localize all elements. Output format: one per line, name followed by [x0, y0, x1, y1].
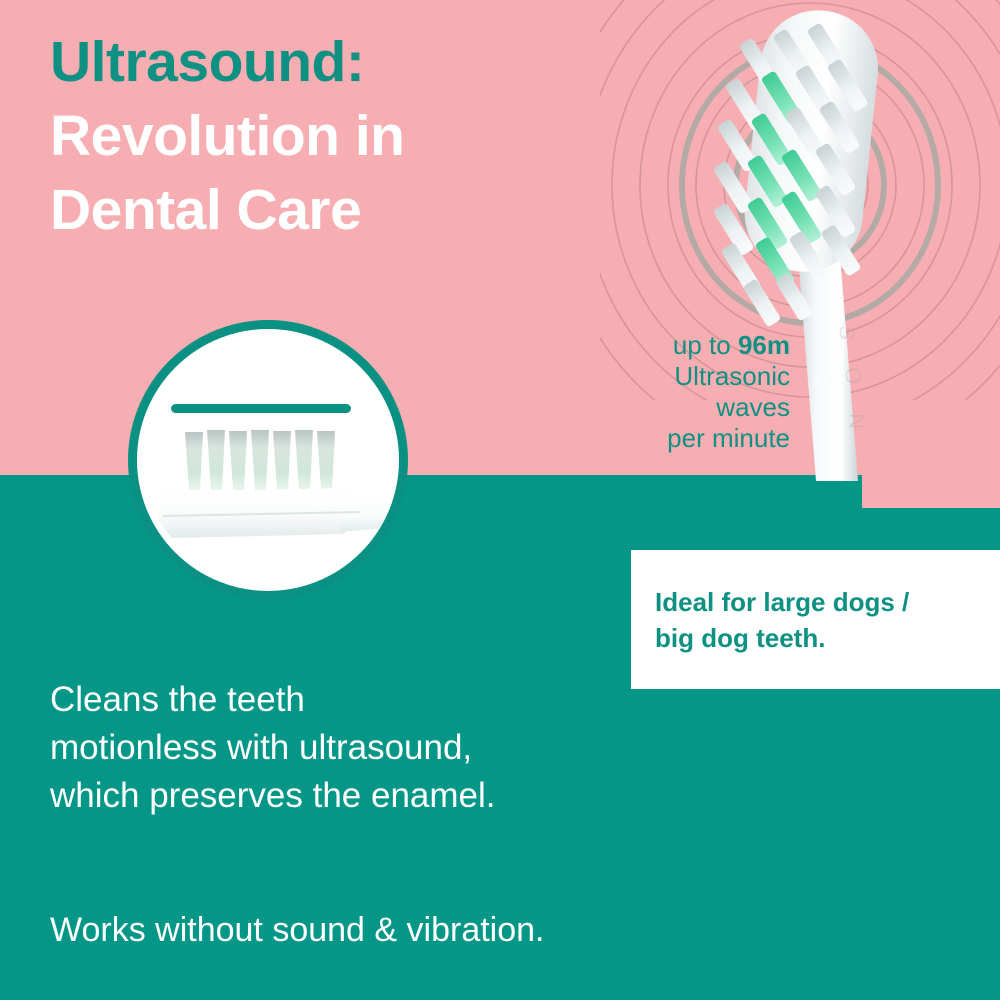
body-line-1: Cleans the teeth — [50, 676, 690, 724]
callout-text: Ideal for large dogs / big dog teeth. — [631, 584, 919, 656]
toothbrush-head-side-view — [128, 320, 408, 600]
svg-text:O: O — [840, 367, 866, 385]
ultrasonic-caption: up to 96m Ultrasonic waves per minute — [560, 330, 790, 454]
headline-line-2: Revolution in — [50, 99, 610, 173]
headline-line-3: Dental Care — [50, 173, 610, 247]
callout-line-2: big dog teeth. — [655, 620, 909, 656]
svg-text:N: N — [844, 413, 870, 430]
callout-box: Ideal for large dogs / big dog teeth. — [631, 550, 1000, 689]
caption-line-1: up to 96m — [560, 330, 790, 361]
poster-canvas: S O N — [0, 0, 1000, 1000]
toothbrush-closeup-circle — [128, 320, 408, 600]
caption-line-3: waves — [560, 392, 790, 423]
body-copy: Cleans the teeth motionless with ultraso… — [50, 676, 690, 820]
body-line-2: motionless with ultrasound, — [50, 724, 690, 772]
caption-line-2: Ultrasonic — [560, 361, 790, 392]
body-line-3: which preserves the enamel. — [50, 772, 690, 820]
caption-line-4: per minute — [560, 423, 790, 454]
svg-text:S: S — [834, 325, 859, 341]
callout-line-1: Ideal for large dogs / — [655, 584, 909, 620]
footer-copy: Works without sound & vibration. — [50, 908, 850, 952]
page-title: Ultrasound: Revolution in Dental Care — [50, 25, 610, 247]
pink-accent-notch — [862, 475, 1000, 508]
caption-prefix: up to — [673, 330, 738, 360]
headline-line-1: Ultrasound: — [50, 25, 610, 99]
caption-value: 96m — [738, 330, 790, 360]
